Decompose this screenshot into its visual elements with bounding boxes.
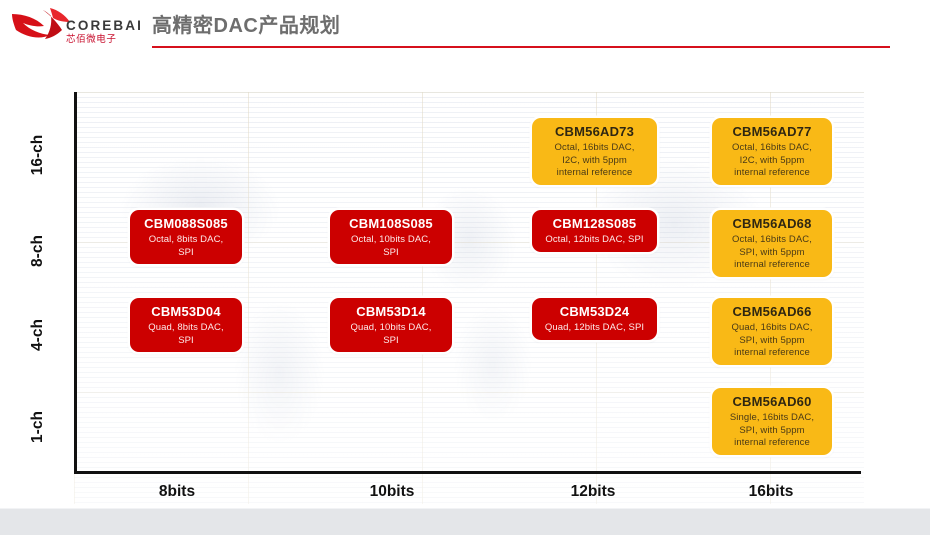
product-card-description: Octal, 16bits DAC,I2C, with 5ppminternal… <box>717 142 827 180</box>
product-card-cbm128s085[interactable]: CBM128S085Octal, 12bits DAC, SPI <box>532 210 657 252</box>
product-card-cbm53d24[interactable]: CBM53D24Quad, 12bits DAC, SPI <box>532 298 657 340</box>
y-axis-label-16ch: 16-ch <box>29 127 47 183</box>
product-card-description: Quad, 12bits DAC, SPI <box>537 322 652 335</box>
product-card-cbm56ad77[interactable]: CBM56AD77Octal, 16bits DAC,I2C, with 5pp… <box>712 118 832 185</box>
product-card-part-number: CBM56AD77 <box>717 124 827 140</box>
x-axis-label-10bits: 10bits <box>317 483 467 501</box>
product-card-part-number: CBM53D24 <box>537 304 652 320</box>
product-card-description: Octal, 10bits DAC,SPI <box>335 234 447 259</box>
brand-logo-text: COREBAI 芯佰微电子 <box>66 18 146 46</box>
corebai-bird-logo-icon <box>10 6 72 50</box>
product-card-description: Octal, 12bits DAC, SPI <box>537 234 652 247</box>
product-card-part-number: CBM088S085 <box>135 216 237 232</box>
product-card-part-number: CBM56AD68 <box>717 216 827 232</box>
y-axis-label-4ch: 4-ch <box>29 307 47 363</box>
product-card-part-number: CBM53D04 <box>135 304 237 320</box>
product-card-cbm56ad66[interactable]: CBM56AD66Quad, 16bits DAC,SPI, with 5ppm… <box>712 298 832 365</box>
product-card-description: Quad, 10bits DAC,SPI <box>335 322 447 347</box>
product-card-description: Octal, 16bits DAC,I2C, with 5ppminternal… <box>537 142 652 180</box>
page-title-wrap: 高精密DAC产品规划 <box>152 12 892 40</box>
product-card-description: Single, 16bits DAC,SPI, with 5ppminterna… <box>717 412 827 450</box>
product-card-part-number: CBM128S085 <box>537 216 652 232</box>
product-card-cbm53d14[interactable]: CBM53D14Quad, 10bits DAC,SPI <box>330 298 452 352</box>
product-card-part-number: CBM56AD66 <box>717 304 827 320</box>
product-card-cbm56ad73[interactable]: CBM56AD73Octal, 16bits DAC,I2C, with 5pp… <box>532 118 657 185</box>
product-card-part-number: CBM108S085 <box>335 216 447 232</box>
x-axis-label-8bits: 8bits <box>102 483 252 501</box>
y-axis-line <box>74 92 77 474</box>
product-card-cbm088s085[interactable]: CBM088S085Octal, 8bits DAC,SPI <box>130 210 242 264</box>
brand-name: COREBAI <box>66 18 146 33</box>
title-underline <box>152 46 890 48</box>
y-axis-label-1ch: 1-ch <box>29 399 47 455</box>
x-axis-label-16bits: 16bits <box>696 483 846 501</box>
product-card-description: Octal, 16bits DAC,SPI, with 5ppminternal… <box>717 234 827 272</box>
product-card-cbm53d04[interactable]: CBM53D04Quad, 8bits DAC,SPI <box>130 298 242 352</box>
brand-name-cn: 芯佰微电子 <box>66 34 146 46</box>
y-axis-label-8ch: 8-ch <box>29 223 47 279</box>
slide-footer <box>0 508 930 535</box>
product-card-cbm108s085[interactable]: CBM108S085Octal, 10bits DAC,SPI <box>330 210 452 264</box>
product-card-part-number: CBM53D14 <box>335 304 447 320</box>
x-axis-label-12bits: 12bits <box>518 483 668 501</box>
page-title: 高精密DAC产品规划 <box>152 12 892 40</box>
product-card-description: Quad, 16bits DAC,SPI, with 5ppminternal … <box>717 322 827 360</box>
brand-logo: COREBAI 芯佰微电子 <box>8 4 138 52</box>
product-roadmap-chart: 16-ch 8-ch 4-ch 1-ch 8bits 10bits 12bits… <box>0 58 930 508</box>
slide-header: COREBAI 芯佰微电子 高精密DAC产品规划 <box>0 0 930 58</box>
x-axis-line <box>74 471 861 474</box>
product-card-description: Octal, 8bits DAC,SPI <box>135 234 237 259</box>
product-card-description: Quad, 8bits DAC,SPI <box>135 322 237 347</box>
product-card-cbm56ad68[interactable]: CBM56AD68Octal, 16bits DAC,SPI, with 5pp… <box>712 210 832 277</box>
product-card-part-number: CBM56AD73 <box>537 124 652 140</box>
product-card-part-number: CBM56AD60 <box>717 394 827 410</box>
product-card-cbm56ad60[interactable]: CBM56AD60Single, 16bits DAC,SPI, with 5p… <box>712 388 832 455</box>
slide-root: COREBAI 芯佰微电子 高精密DAC产品规划 16-ch 8-ch 4-ch… <box>0 0 930 535</box>
